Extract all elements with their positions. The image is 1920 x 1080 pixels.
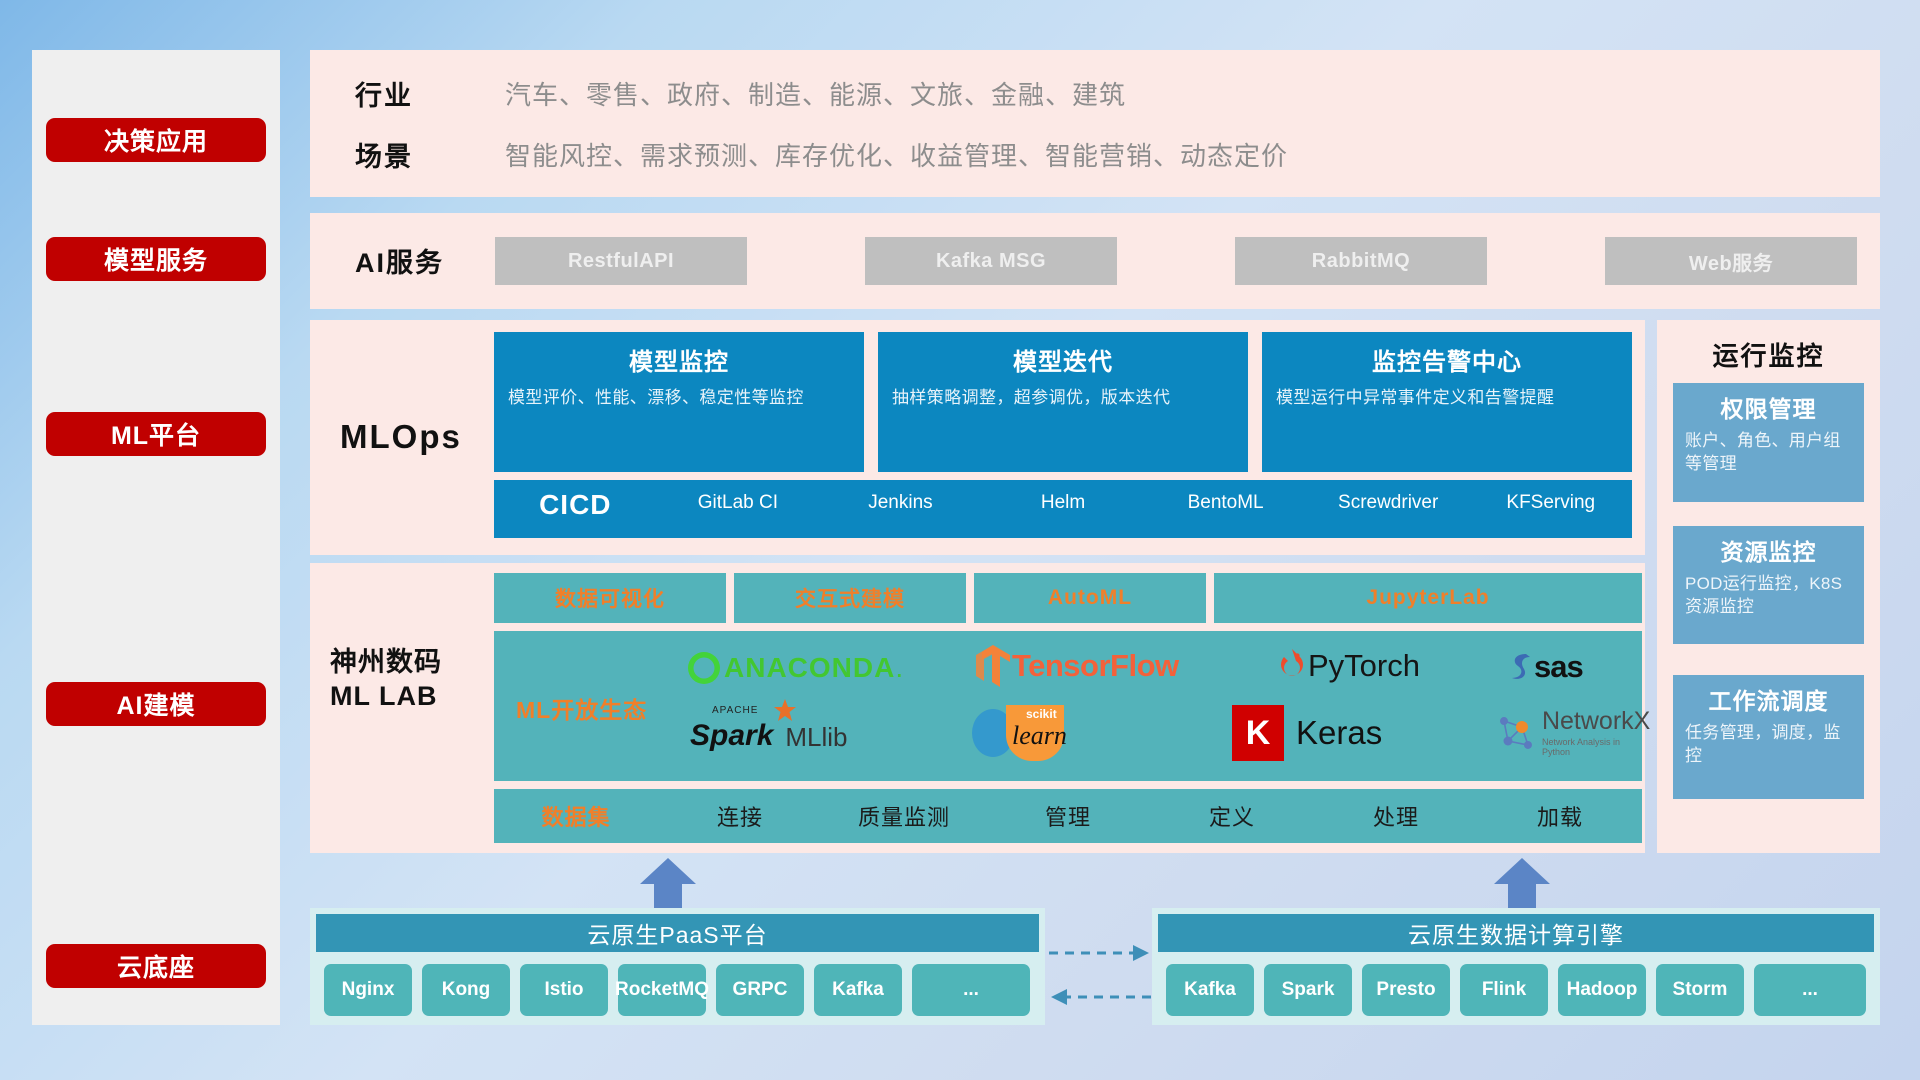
rail-item-cloud-base[interactable]: 云底座 <box>46 944 266 988</box>
pytorch-icon <box>1276 646 1308 686</box>
mlops-panel: MLOps 模型监控 模型评价、性能、漂移、稳定性等监控 模型迭代 抽样策略调整… <box>310 320 1645 555</box>
chip-label: GRPC <box>733 980 788 1001</box>
card-title: 工作流调度 <box>1685 682 1852 716</box>
paas-chip-kafka[interactable]: Kafka <box>814 964 902 1016</box>
decision-application-panel: 行业 汽车、零售、政府、制造、能源、文旅、金融、建筑 场景 智能风控、需求预测、… <box>310 50 1880 197</box>
ml-lab-panel: 神州数码 ML LAB 数据可视化 交互式建模 AutoML JupyterLa… <box>310 563 1645 853</box>
dataset-load[interactable]: 加载 <box>1478 800 1642 832</box>
rail-item-ai-modeling[interactable]: AI建模 <box>46 682 266 726</box>
mlops-card-model-monitoring[interactable]: 模型监控 模型评价、性能、漂移、稳定性等监控 <box>494 332 864 472</box>
cicd-item-screwdriver[interactable]: Screwdriver <box>1307 480 1470 514</box>
chip-label: Storm <box>1673 980 1728 1001</box>
industry-label: 行业 <box>355 74 413 113</box>
compute-chip-kafka[interactable]: Kafka <box>1166 964 1254 1016</box>
keras-text: Keras <box>1296 714 1382 752</box>
compute-chip-spark[interactable]: Spark <box>1264 964 1352 1016</box>
dataset-process[interactable]: 处理 <box>1314 800 1478 832</box>
anaconda-logo: ANACONDA . <box>684 645 903 691</box>
anaconda-text: ANACONDA <box>724 652 895 684</box>
scikit-text: scikit <box>1026 707 1057 721</box>
chip-label: ... <box>1802 980 1818 1001</box>
lab-chip-interactive-modeling[interactable]: 交互式建模 <box>734 573 966 623</box>
service-web[interactable]: Web服务 <box>1605 237 1857 285</box>
card-desc: 任务管理，调度，监控 <box>1685 722 1852 767</box>
industry-text: 汽车、零售、政府、制造、能源、文旅、金融、建筑 <box>505 75 1126 112</box>
chip-label: ... <box>963 980 979 1001</box>
compute-chip-storm[interactable]: Storm <box>1656 964 1744 1016</box>
lab-chip-jupyterlab[interactable]: JupyterLab <box>1214 573 1642 623</box>
chip-label: Kong <box>442 980 491 1001</box>
cloud-native-compute-block: 云原生数据计算引擎 Kafka Spark Presto Flink Hadoo… <box>1152 908 1880 1025</box>
rail-label: AI建模 <box>116 686 195 722</box>
paas-chip-kong[interactable]: Kong <box>422 964 510 1016</box>
chip-label: Flink <box>1482 980 1526 1001</box>
monitor-card-workflow[interactable]: 工作流调度 任务管理，调度，监控 <box>1673 675 1864 799</box>
rail-item-model-serving[interactable]: 模型服务 <box>46 237 266 281</box>
arrow-up-compute-icon <box>1492 858 1552 910</box>
service-label: Kafka MSG <box>936 250 1046 273</box>
keras-mark-icon: K <box>1232 705 1284 761</box>
chip-label: 数据可视化 <box>555 583 665 613</box>
mlops-card-model-iteration[interactable]: 模型迭代 抽样策略调整，超参调优，版本迭代 <box>878 332 1248 472</box>
cicd-item-helm[interactable]: Helm <box>982 480 1145 514</box>
dataset-connect[interactable]: 连接 <box>658 800 822 832</box>
paas-chip-grpc[interactable]: GRPC <box>716 964 804 1016</box>
sas-logo: sas <box>1504 645 1583 689</box>
networkx-icon <box>1494 711 1536 755</box>
compute-chip-presto[interactable]: Presto <box>1362 964 1450 1016</box>
card-desc: 模型评价、性能、漂移、稳定性等监控 <box>508 386 850 409</box>
monitoring-title: 运行监控 <box>1657 336 1880 373</box>
arrow-up-paas-icon <box>638 858 698 910</box>
chip-label: Presto <box>1376 980 1435 1001</box>
architecture-diagram: 决策应用 模型服务 ML平台 AI建模 云底座 行业 汽车、零售、政府、制造、能… <box>0 0 1920 1080</box>
dataset-define[interactable]: 定义 <box>1150 800 1314 832</box>
networkx-text: NetworkX <box>1542 709 1650 734</box>
ml-lab-label-cn: 神州数码 <box>330 646 442 680</box>
rail-label: 云底座 <box>117 948 195 984</box>
rail-label: ML平台 <box>111 416 201 452</box>
chip-label: Kafka <box>832 980 884 1001</box>
dataset-row: 数据集 连接 质量监测 管理 定义 处理 加载 <box>494 789 1642 843</box>
learn-text: learn <box>1012 721 1067 751</box>
ai-service-panel: AI服务 RestfulAPI Kafka MSG RabbitMQ Web服务 <box>310 213 1880 309</box>
networkx-logo: NetworkX Network Analysis in Python <box>1494 707 1650 759</box>
cicd-item-kfserving[interactable]: KFServing <box>1469 480 1632 514</box>
ml-lab-label-en: ML LAB <box>330 680 442 714</box>
dataset-label: 数据集 <box>494 800 658 832</box>
monitor-card-permission[interactable]: 权限管理 账户、角色、用户组等管理 <box>1673 383 1864 502</box>
compute-chip-flink[interactable]: Flink <box>1460 964 1548 1016</box>
ml-lab-label: 神州数码 ML LAB <box>330 646 442 714</box>
rail-item-ml-platform[interactable]: ML平台 <box>46 412 266 456</box>
chip-label: Nginx <box>342 980 395 1001</box>
chip-label: Hadoop <box>1567 980 1638 1001</box>
card-title: 模型监控 <box>508 342 850 377</box>
service-rabbitmq[interactable]: RabbitMQ <box>1235 237 1487 285</box>
chip-label: Kafka <box>1184 980 1236 1001</box>
compute-header: 云原生数据计算引擎 <box>1158 914 1874 952</box>
cicd-item-jenkins[interactable]: Jenkins <box>819 480 982 514</box>
compute-chip-more[interactable]: ... <box>1754 964 1866 1016</box>
chip-label: RocketMQ <box>615 980 709 1001</box>
chip-label: Istio <box>544 980 583 1001</box>
scikit-learn-logo: scikit learn <box>972 705 1102 761</box>
lab-chip-automl[interactable]: AutoML <box>974 573 1206 623</box>
rail-label: 决策应用 <box>104 122 208 158</box>
rail-item-decision[interactable]: 决策应用 <box>46 118 266 162</box>
card-title: 资源监控 <box>1685 533 1852 567</box>
card-desc: 账户、角色、用户组等管理 <box>1685 430 1852 475</box>
tensorflow-icon <box>974 643 1012 689</box>
mlops-label: MLOps <box>340 418 462 456</box>
cloud-native-paas-block: 云原生PaaS平台 Nginx Kong Istio RocketMQ GRPC… <box>310 908 1045 1025</box>
sas-text: sas <box>1534 649 1583 685</box>
spark-star-icon <box>774 699 796 725</box>
card-title: 权限管理 <box>1685 390 1852 424</box>
chip-label: 交互式建模 <box>795 583 905 613</box>
mlops-card-alert-center[interactable]: 监控告警中心 模型运行中异常事件定义和告警提醒 <box>1262 332 1632 472</box>
paas-chip-rocketmq[interactable]: RocketMQ <box>618 964 706 1016</box>
service-kafka-msg[interactable]: Kafka MSG <box>865 237 1117 285</box>
ai-service-label: AI服务 <box>355 241 444 280</box>
ml-open-ecosystem: ML开放生态 ANACONDA . TensorFlow <box>494 631 1642 781</box>
tensorflow-text: TensorFlow <box>1012 648 1179 684</box>
cicd-title: CICD <box>494 480 657 521</box>
service-label: RabbitMQ <box>1312 250 1410 273</box>
paas-chip-istio[interactable]: Istio <box>520 964 608 1016</box>
eco-label: ML开放生态 <box>516 691 647 725</box>
chip-label: AutoML <box>1048 586 1132 610</box>
paas-header-label: 云原生PaaS平台 <box>587 916 767 950</box>
compute-chip-hadoop[interactable]: Hadoop <box>1558 964 1646 1016</box>
paas-chip-more[interactable]: ... <box>912 964 1030 1016</box>
dataset-quality[interactable]: 质量监测 <box>822 800 986 832</box>
scenario-text: 智能风控、需求预测、库存优化、收益管理、智能营销、动态定价 <box>505 136 1288 173</box>
service-restful-api[interactable]: RestfulAPI <box>495 237 747 285</box>
card-desc: 抽样策略调整，超参调优，版本迭代 <box>892 386 1234 409</box>
dataset-manage[interactable]: 管理 <box>986 800 1150 832</box>
cicd-item-bentoml[interactable]: BentoML <box>1144 480 1307 514</box>
cicd-item-gitlab[interactable]: GitLab CI <box>657 480 820 514</box>
card-title: 模型迭代 <box>892 342 1234 377</box>
service-label: Web服务 <box>1689 247 1773 276</box>
chip-label: JupyterLab <box>1366 586 1489 610</box>
layer-rail: 决策应用 模型服务 ML平台 AI建模 云底座 <box>32 50 280 1025</box>
runtime-monitoring-panel: 运行监控 权限管理 账户、角色、用户组等管理 资源监控 POD运行监控，K8S资… <box>1657 320 1880 853</box>
scenario-label: 场景 <box>355 135 413 174</box>
card-title: 监控告警中心 <box>1276 342 1618 377</box>
pytorch-text: PyTorch <box>1308 648 1420 684</box>
dashed-connectors <box>1045 940 1155 1010</box>
monitor-card-resource[interactable]: 资源监控 POD运行监控，K8S资源监控 <box>1673 526 1864 644</box>
rail-label: 模型服务 <box>104 241 208 277</box>
spark-apache-text: APACHE <box>712 705 758 716</box>
card-desc: POD运行监控，K8S资源监控 <box>1685 573 1852 618</box>
compute-header-label: 云原生数据计算引擎 <box>1408 916 1624 950</box>
paas-header: 云原生PaaS平台 <box>316 914 1039 952</box>
networkx-subtitle: Network Analysis in Python <box>1542 737 1650 757</box>
anaconda-icon <box>684 648 724 688</box>
paas-chip-nginx[interactable]: Nginx <box>324 964 412 1016</box>
service-label: RestfulAPI <box>568 250 674 273</box>
spark-mllib-logo: APACHE Spark MLlib <box>690 709 848 763</box>
sas-icon <box>1504 648 1534 686</box>
keras-logo: K Keras <box>1232 705 1382 761</box>
cicd-bar: CICD GitLab CI Jenkins Helm BentoML Scre… <box>494 480 1632 538</box>
pytorch-logo: PyTorch <box>1276 643 1420 689</box>
card-desc: 模型运行中异常事件定义和告警提醒 <box>1276 386 1618 409</box>
chip-label: Spark <box>1282 980 1335 1001</box>
lab-chip-data-visualization[interactable]: 数据可视化 <box>494 573 726 623</box>
tensorflow-logo: TensorFlow <box>974 641 1179 691</box>
